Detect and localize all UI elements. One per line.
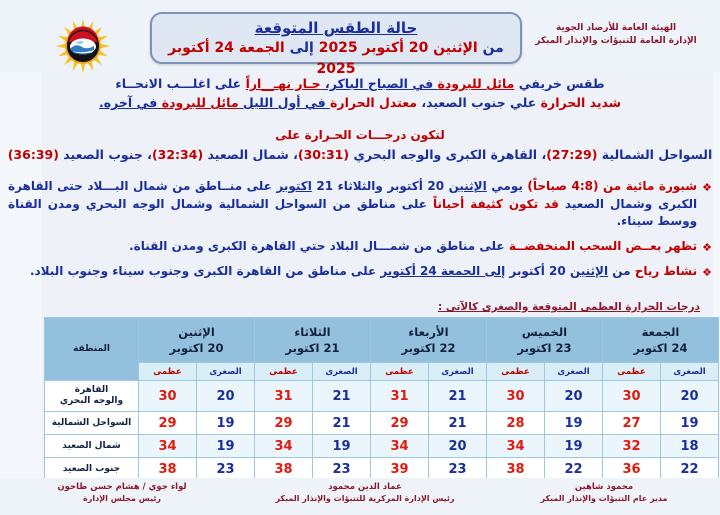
- cell-max-temp: 30: [603, 381, 661, 412]
- bullet-2-part-5: على مناطق من القاهرة الكبرى وجنوب سيناء …: [30, 264, 380, 278]
- cell-max-temp: 31: [255, 381, 313, 412]
- table-row: 20302030213121312030القاهرةوالوجه البحري: [45, 381, 719, 412]
- day-name: الجمعة: [603, 324, 718, 340]
- intro-2b: علي جنوب الصعيد،: [417, 95, 541, 110]
- cell-max-temp: 29: [371, 412, 429, 435]
- cell-min-temp: 21: [313, 381, 371, 412]
- intro-1b: مائل للبرودة: [438, 76, 515, 91]
- table-body: 20302030213121312030القاهرةوالوجه البحري…: [45, 381, 719, 481]
- weather-bulletin-page: الهيئة العامة للأرصاد الجوية الإدارة الع…: [0, 0, 720, 515]
- table-header-min: الصغرى: [545, 363, 603, 381]
- date-range-prefix: من: [478, 40, 504, 56]
- forecast-summary: طقس خريفي مائل للبرودة في الصباح الباكر،…: [0, 74, 720, 112]
- bullet-diamond-icon: ❖: [702, 238, 712, 256]
- page-header: الهيئة العامة للأرصاد الجوية الإدارة الع…: [0, 0, 720, 72]
- bullet-diamond-icon: ❖: [702, 263, 712, 281]
- table-header-row-days: الجمعة24 اكتوبرالخميس23 اكتوبرالأربعاء22…: [45, 318, 719, 363]
- table-header-min: الصغرى: [661, 363, 719, 381]
- cell-region-name: القاهرةوالوجه البحري: [45, 381, 139, 412]
- day-name: الخميس: [487, 324, 602, 340]
- cell-min-temp: 20: [661, 381, 719, 412]
- bullet-1-part-0: تظهر بعــض السحب المنخفضــة: [509, 239, 697, 253]
- forecast-table: الجمعة24 اكتوبرالخميس23 اكتوبرالأربعاء22…: [44, 317, 719, 481]
- cell-max-temp: 30: [487, 381, 545, 412]
- cell-max-temp: 27: [603, 412, 661, 435]
- table-header-max: عظمى: [603, 363, 661, 381]
- bullet-text: نشاط رياح من الإثنين 20 أكتوبر إلى الجمع…: [8, 263, 697, 281]
- signatory-chairman-name: لواء جوي / هشام حسن طاحون: [2, 481, 242, 493]
- intro-2d: في أول الليل: [239, 95, 330, 110]
- bullet-2-part-2: الإثنين: [570, 264, 608, 278]
- cell-min-temp: 20: [545, 381, 603, 412]
- bullet-0-part-3: 20 أكتوبر والثلاثاء 21: [312, 179, 449, 193]
- bulletin-title-box: حالة الطقس المتوقعة من الإثنين 20 أكتوبر…: [150, 12, 522, 64]
- forecast-bullet: ❖تظهر بعــض السحب المنخفضــة على مناطق م…: [8, 238, 712, 256]
- signatory-chairman-role: رئيس مجلس الإدارة: [2, 493, 242, 505]
- cell-max-temp: 28: [487, 412, 545, 435]
- temp-region-3: جنوب الصعيد: [59, 147, 143, 162]
- cell-min-temp: 21: [429, 412, 487, 435]
- cell-min-temp: 19: [197, 412, 255, 435]
- day-date: 23 اكتوبر: [487, 340, 602, 356]
- cell-max-temp: 34: [139, 435, 197, 458]
- egyptian-meteorological-authority-logo: [47, 18, 119, 74]
- day-date: 22 اكتوبر: [371, 340, 486, 356]
- table-header-day: الأربعاء22 اكتوبر: [371, 318, 487, 363]
- day-name: الثلاثاء: [255, 324, 370, 340]
- agency-name-line2: الإدارة العامة للتنبؤات والإنذار المبكر: [526, 35, 706, 48]
- table-header-max: عظمى: [139, 363, 197, 381]
- cell-max-temp: 29: [139, 412, 197, 435]
- intro-1a: طقس خريفي: [514, 76, 604, 91]
- intro-1e: على اغلـــب الانحــاء: [115, 76, 245, 91]
- table-header-max: عظمى: [487, 363, 545, 381]
- bullet-diamond-icon: ❖: [702, 178, 712, 196]
- bullet-0-part-6: قد تكون كثيفة أحياناً: [433, 197, 559, 211]
- forecast-bullet-list: ❖شبورة مائية من (4:8 صباحاً) يومي الإثني…: [8, 178, 712, 288]
- temp-region-1: القاهرة الكبرى والوجه البحري: [349, 147, 537, 162]
- agency-name: الهيئة العامة للأرصاد الجوية الإدارة الع…: [526, 22, 706, 48]
- bullet-text: تظهر بعــض السحب المنخفضــة على مناطق من…: [8, 238, 697, 256]
- cell-min-temp: 18: [661, 435, 719, 458]
- intro-2f: في آخره.: [99, 95, 162, 110]
- signatory-central-head-name: عماد الدين محمود: [242, 481, 488, 493]
- table-row: 18321934203419341934شمال الصعيد: [45, 435, 719, 458]
- temp-separator-0: ،: [537, 147, 546, 162]
- temperature-ranges-line: السواحل الشمالية (27:29)، القاهرة الكبرى…: [0, 146, 720, 164]
- cell-max-temp: 30: [139, 381, 197, 412]
- table-caption: درجات الحرارة العظمى المتوقعة والصغرى كا…: [438, 301, 700, 313]
- cell-max-temp: 32: [603, 435, 661, 458]
- table-row: 19271928212921291929السواحل الشمالية: [45, 412, 719, 435]
- cell-min-temp: 20: [429, 435, 487, 458]
- intro-1c: في الصباح الباكر،: [321, 76, 438, 91]
- cell-min-temp: 19: [313, 435, 371, 458]
- table-header-min: الصغرى: [429, 363, 487, 381]
- bullet-2-part-3: 20 أكتوبر: [505, 264, 570, 278]
- signatory-chairman: لواء جوي / هشام حسن طاحون رئيس مجلس الإد…: [2, 481, 242, 505]
- page-title: حالة الطقس المتوقعة: [152, 18, 520, 38]
- temp-separator-2: ،: [143, 147, 152, 162]
- cell-max-temp: 34: [487, 435, 545, 458]
- region-line1: السواحل الشمالية: [45, 418, 138, 429]
- cell-min-temp: 19: [545, 412, 603, 435]
- bullet-text: شبورة مائية من (4:8 صباحاً) يومي الإثنين…: [8, 178, 697, 231]
- signatory-forecast-director-name: محمود شاهين: [488, 481, 720, 493]
- signatory-central-head-role: رئيس الإدارة المركزية للتنبؤات والإنذار …: [242, 493, 488, 505]
- day-date: 21 اكتوبر: [255, 340, 370, 356]
- region-line1: جنوب الصعيد: [45, 464, 138, 475]
- page-footer: لواء جوي / هشام حسن طاحون رئيس مجلس الإد…: [0, 478, 720, 515]
- cell-max-temp: 34: [371, 435, 429, 458]
- bullet-0-part-1: يومي: [487, 179, 528, 193]
- intro-2a: شديد الحرارة: [541, 95, 621, 110]
- cell-region-name: شمال الصعيد: [45, 435, 139, 458]
- cell-min-temp: 19: [545, 435, 603, 458]
- day-date: 24 اكتوبر: [603, 340, 718, 356]
- region-line1: القاهرة: [45, 385, 138, 396]
- cell-min-temp: 19: [197, 435, 255, 458]
- table-header-min: الصغرى: [313, 363, 371, 381]
- table-header-max: عظمى: [371, 363, 429, 381]
- forecast-bullet: ❖شبورة مائية من (4:8 صباحاً) يومي الإثني…: [8, 178, 712, 231]
- cell-min-temp: 20: [197, 381, 255, 412]
- table-header-min: الصغرى: [197, 363, 255, 381]
- temp-region-0: السواحل الشمالية: [597, 147, 712, 162]
- forecast-summary-line2: شديد الحرارة علي جنوب الصعيد، معتدل الحر…: [0, 93, 720, 112]
- table-header-day: الثلاثاء21 اكتوبر: [255, 318, 371, 363]
- cell-min-temp: 21: [313, 412, 371, 435]
- region-line2: والوجه البحري: [45, 396, 138, 407]
- date-range-connector: إلى: [285, 40, 319, 56]
- temp-range-0: (27:29): [546, 147, 597, 162]
- table-header-day: الخميس23 اكتوبر: [487, 318, 603, 363]
- bullet-2-part-4: إلى الجمعة 24 أكتوبر: [380, 264, 505, 278]
- table-header-row-minmax: الصغرىعظمىالصغرىعظمىالصغرىعظمىالصغرىعظمى…: [45, 363, 719, 381]
- temp-range-1: (30:31): [298, 147, 349, 162]
- signatory-central-head: عماد الدين محمود رئيس الإدارة المركزية ل…: [242, 481, 488, 505]
- forecast-bullet: ❖نشاط رياح من الإثنين 20 أكتوبر إلى الجم…: [8, 263, 712, 281]
- bullet-0-part-0: شبورة مائية من (4:8 صباحاً): [527, 179, 697, 193]
- intro-1d: حـار نهـ__اراً: [246, 76, 321, 91]
- forecast-summary-line1: طقس خريفي مائل للبرودة في الصباح الباكر،…: [0, 74, 720, 93]
- cell-min-temp: 19: [661, 412, 719, 435]
- signatory-forecast-director: محمود شاهين مدير عام التنبؤات والإنذار ا…: [488, 481, 720, 505]
- table-header-day: الإثنين20 اكتوبر: [139, 318, 255, 363]
- cell-min-temp: 21: [429, 381, 487, 412]
- day-name: الإثنين: [139, 324, 254, 340]
- agency-name-line1: الهيئة العامة للأرصاد الجوية: [526, 22, 706, 35]
- signatory-forecast-director-role: مدير عام التنبؤات والإنذار المبكر: [488, 493, 720, 505]
- cell-region-name: السواحل الشمالية: [45, 412, 139, 435]
- day-date: 20 اكتوبر: [139, 340, 254, 356]
- cell-max-temp: 31: [371, 381, 429, 412]
- table-header-day: الجمعة24 اكتوبر: [603, 318, 719, 363]
- table-head: الجمعة24 اكتوبرالخميس23 اكتوبرالأربعاء22…: [45, 318, 719, 381]
- temp-range-3: (36:39): [8, 147, 59, 162]
- bullet-2-part-1: من: [608, 264, 635, 278]
- temp-separator-1: ،: [289, 147, 298, 162]
- day-name: الأربعاء: [371, 324, 486, 340]
- bullet-0-part-4: اكتوبر: [276, 179, 311, 193]
- intro-2c: معتدل الحرارة: [330, 95, 417, 110]
- intro-2e: مائل للبرودة: [162, 95, 239, 110]
- table-header-region: المنطقة: [45, 318, 139, 381]
- bullet-1-part-1: على مناطق من شمـــال البلاد حتي القاهرة …: [129, 239, 509, 253]
- cell-max-temp: 29: [255, 412, 313, 435]
- region-line1: شمال الصعيد: [45, 441, 138, 452]
- bullet-2-part-0: نشاط رياح: [635, 264, 697, 278]
- temp-range-2: (32:34): [152, 147, 203, 162]
- table-header-max: عظمى: [255, 363, 313, 381]
- date-range-start: الإثنين 20 أكتوبر 2025: [319, 40, 478, 56]
- temp-region-2: شمال الصعيد: [203, 147, 289, 162]
- temperature-ranges-heading: لتكون درجـــات الحـرارة على: [0, 128, 720, 142]
- cell-max-temp: 34: [255, 435, 313, 458]
- bullet-0-part-2: الإثنين: [449, 179, 487, 193]
